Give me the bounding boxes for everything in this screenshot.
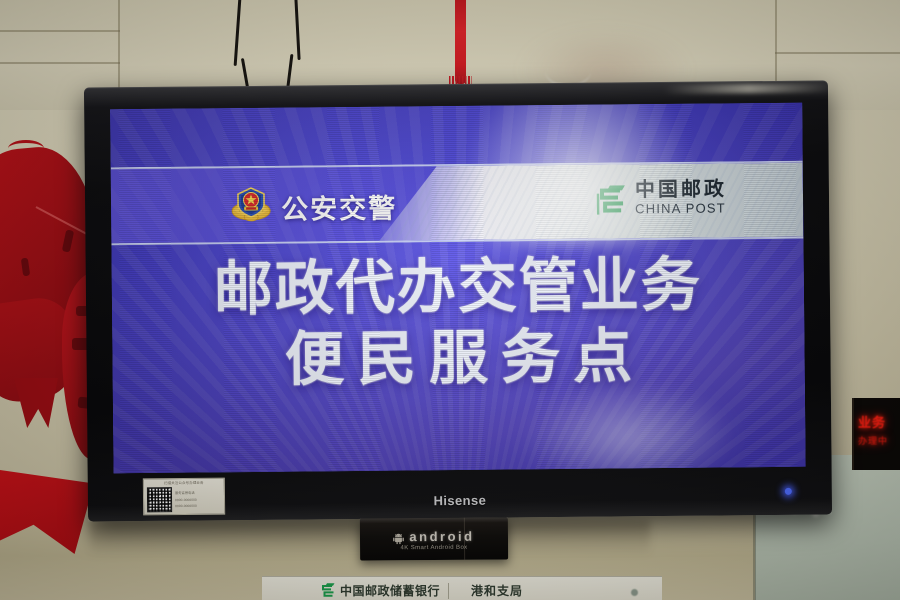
- indicator-dot: [631, 589, 638, 596]
- sticker-body: 服务监督电话 0000-0000000 0000-0000000: [147, 487, 221, 513]
- ceiling-tile-seam: [0, 62, 120, 64]
- sticker-heading: 扫描关注公众号办理业务: [147, 481, 221, 487]
- led-sign-line1: 业务: [858, 412, 886, 431]
- power-indicator-led: [785, 488, 792, 495]
- android-branding: android: [360, 528, 508, 544]
- television[interactable]: 公安交警 中国邮政: [84, 80, 832, 521]
- android-robot-icon: [393, 531, 404, 542]
- sticker-line: 0000-0000000: [175, 497, 221, 501]
- android-wordmark: android: [409, 529, 474, 544]
- china-post-logo-small: [320, 583, 336, 598]
- qr-sticker[interactable]: 扫描关注公众号办理业务 服务监督电话 0000-0000000 0000-000…: [143, 478, 225, 516]
- photo-scene: 业务 办理中: [0, 0, 900, 600]
- screen-glare: [462, 103, 694, 246]
- android-box-subtitle: 4K Smart Android Box: [360, 544, 508, 551]
- tv-screen[interactable]: 公安交警 中国邮政: [110, 103, 805, 474]
- ceiling-tile-seam: [0, 30, 120, 32]
- bottom-sign-clip: 中国邮政储蓄银行 港和支局: [262, 576, 662, 600]
- bottom-sign-text-left: 中国邮政储蓄银行: [340, 582, 440, 599]
- red-tassel: [455, 0, 466, 84]
- bottom-sign-text-right: 港和支局: [471, 582, 523, 599]
- sticker-line: 0000-0000000: [175, 504, 221, 508]
- bezel-glare: [664, 83, 834, 94]
- bottom-sign-row: 中国邮政储蓄银行 港和支局: [262, 582, 662, 599]
- led-sign-line2: 办理中: [858, 434, 888, 447]
- bottom-sign-divider: [448, 583, 449, 599]
- ceiling-tile-seam: [775, 52, 900, 54]
- qr-code[interactable]: [147, 487, 172, 512]
- box-highlight: [360, 517, 508, 523]
- bottom-sign: 中国邮政储蓄银行 港和支局: [262, 576, 662, 600]
- sticker-text-lines: 服务监督电话 0000-0000000 0000-0000000: [175, 487, 221, 512]
- screen-glare: [523, 381, 734, 473]
- led-sign: 业务 办理中: [852, 398, 900, 470]
- sticker-line: 服务监督电话: [175, 491, 221, 495]
- android-tv-box[interactable]: android 4K Smart Android Box: [360, 517, 508, 560]
